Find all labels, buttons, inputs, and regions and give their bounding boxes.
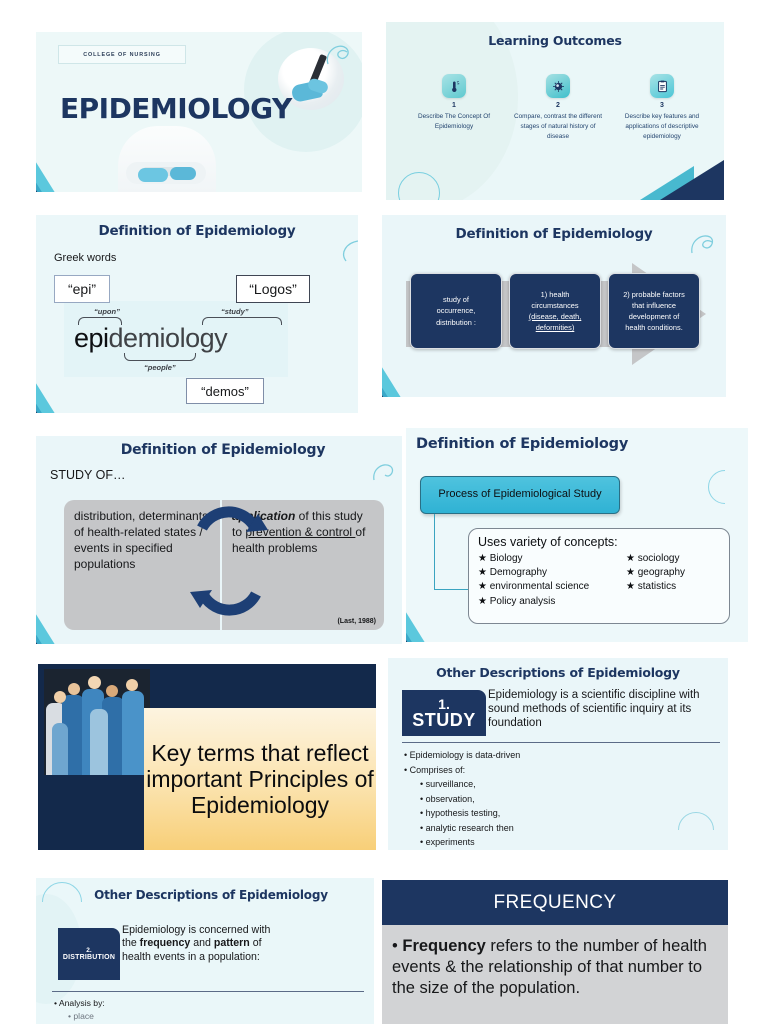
outcome-number: 1 — [402, 102, 506, 109]
divider — [402, 742, 720, 743]
thermometer-icon — [442, 74, 466, 98]
list-item: hypothesis testing, — [404, 806, 520, 821]
label-people: “people” — [144, 363, 176, 372]
bullet-list: Analysis by: place — [54, 997, 105, 1024]
slide-process-of-study[interactable]: Definition of Epidemiology Process of Ep… — [406, 428, 748, 642]
concept-item: ★ Demography — [478, 566, 626, 580]
lead-text: Epidemiology is concerned with the frequ… — [122, 924, 368, 964]
slide-other-descriptions-distribution[interactable]: Other Descriptions of Epidemiology 2. DI… — [36, 878, 374, 1024]
decor-arc — [678, 812, 714, 848]
slide-definition-study-of[interactable]: Definition of Epidemiology STUDY OF… dis… — [36, 436, 402, 644]
outcome-text: Describe The Concept Of Epidemiology — [402, 112, 506, 132]
slide-other-descriptions-study[interactable]: Other Descriptions of Epidemiology 1. ST… — [388, 658, 728, 850]
tag-word: DISTRIBUTION — [63, 954, 115, 961]
tag-study: 1. STUDY — [402, 690, 486, 736]
glove-shape-4 — [170, 167, 196, 180]
slide-frequency[interactable]: FREQUENCY • Frequency refers to the numb… — [382, 880, 728, 1024]
definition-cards: study ofoccurrence,distribution : 1) hea… — [410, 273, 700, 349]
page-title: Definition of Epidemiology — [36, 223, 358, 239]
outcome-item-2[interactable]: 2 Compare, contrast the different stages… — [506, 74, 610, 142]
frequency-keyword: Frequency — [402, 937, 485, 955]
concept-item: ★ Policy analysis — [478, 595, 626, 609]
list-item: Analysis by: — [54, 997, 105, 1010]
outcome-text: Describe key features and applications o… — [610, 112, 714, 142]
clipboard-icon — [650, 74, 674, 98]
outcomes-row: 1 Describe The Concept Of Epidemiology 2… — [402, 74, 714, 142]
box-logos: “Logos” — [236, 275, 310, 303]
brace-people — [124, 353, 196, 361]
cycle-arrow-icon — [184, 482, 274, 638]
concepts-caption: Uses variety of concepts: — [478, 535, 720, 549]
tag-distribution: 2. DISTRIBUTION — [58, 928, 120, 980]
swirl-decor-icon — [336, 237, 358, 267]
decor-arc — [708, 470, 742, 504]
list-item: Comprises of: — [404, 763, 520, 778]
list-item: analytic research then — [404, 821, 520, 836]
page-title: Learning Outcomes — [386, 33, 724, 48]
list-item: place — [54, 1010, 105, 1023]
list-item: Epidemiology is data-driven — [404, 748, 520, 763]
concepts-grid: ★ Biology ★ sociology ★ Demography ★ geo… — [478, 552, 720, 609]
bullet-dot: • — [392, 937, 398, 955]
slide-key-terms[interactable]: Key terms that reflect important Princip… — [38, 664, 376, 850]
process-label-box[interactable]: Process of Epidemiological Study — [420, 476, 620, 514]
glove-shape-3 — [138, 168, 168, 182]
label-study: “study” — [221, 307, 249, 316]
page-title: EPIDEMIOLOGY — [60, 92, 292, 125]
bullet-list: Epidemiology is data-driven Comprises of… — [404, 748, 520, 850]
list-item: surveillance, — [404, 777, 520, 792]
label-upon: “upon” — [94, 307, 120, 316]
tag-number: 2. — [86, 947, 91, 954]
slide-definition-arrow[interactable]: Definition of Epidemiology study ofoccur… — [382, 215, 726, 397]
frequency-title-bar: FREQUENCY — [382, 880, 728, 925]
virus-icon — [546, 74, 570, 98]
citation: (Last, 1988) — [337, 617, 376, 626]
epidemiology-word: epidemiology — [74, 323, 227, 354]
slide-deck: COLLEGE OF NURSING EPIDEMIOLOGY Learning… — [0, 0, 768, 1024]
page-title: Definition of Epidemiology — [416, 436, 628, 452]
navy-corner-decor — [660, 160, 724, 200]
nurses-group-illustration — [44, 669, 150, 775]
greek-words-label: Greek words — [54, 252, 116, 264]
definition-card-1[interactable]: study ofoccurrence,distribution : — [410, 273, 502, 349]
concepts-box: Uses variety of concepts: ★ Biology ★ so… — [468, 528, 730, 624]
definition-card-2[interactable]: 1) healthcircumstances(disease, death,de… — [509, 273, 601, 349]
list-item: observation, — [404, 792, 520, 807]
concept-item: ★ environmental science — [478, 580, 626, 594]
key-terms-panel: Key terms that reflect important Princip… — [144, 708, 376, 850]
list-item: experiments — [404, 835, 520, 850]
nurse-with-clipboard-photo — [118, 126, 216, 192]
page-title: Definition of Epidemiology — [50, 442, 396, 458]
lead-text: Epidemiology is a scientific discipline … — [488, 688, 720, 730]
outcome-item-3[interactable]: 3 Describe key features and applications… — [610, 74, 714, 142]
key-terms-text: Key terms that reflect important Princip… — [144, 740, 376, 818]
concept-item: ★ Biology — [478, 552, 626, 566]
concept-item: ★ sociology — [626, 552, 720, 566]
slide-title[interactable]: COLLEGE OF NURSING EPIDEMIOLOGY — [36, 32, 362, 192]
subhead-study-of: STUDY OF… — [50, 468, 125, 482]
frequency-body: • Frequency refers to the number of heal… — [392, 936, 720, 999]
concept-item: ★ statistics — [626, 580, 720, 594]
outcome-number: 2 — [506, 102, 610, 109]
box-demos: “demos” — [186, 378, 264, 404]
word-prefix: epi — [74, 323, 109, 353]
outcome-number: 3 — [610, 102, 714, 109]
tag-number: 1. — [438, 697, 450, 711]
page-title: Other Descriptions of Epidemiology — [48, 888, 374, 902]
page-title: Definition of Epidemiology — [382, 226, 726, 242]
swirl-decor-icon — [370, 458, 400, 488]
college-badge: COLLEGE OF NURSING — [58, 45, 186, 64]
concept-item: ★ geography — [626, 566, 720, 580]
outcome-item-1[interactable]: 1 Describe The Concept Of Epidemiology — [402, 74, 506, 142]
slide-definition-greek[interactable]: Definition of Epidemiology Greek words “… — [36, 215, 358, 413]
definition-card-3[interactable]: 2) probable factorsthat influencedevelop… — [608, 273, 700, 349]
page-title: Other Descriptions of Epidemiology — [388, 665, 728, 680]
slide-learning-outcomes[interactable]: Learning Outcomes 1 Describe The Concept… — [386, 22, 724, 200]
outcome-text: Compare, contrast the different stages o… — [506, 112, 610, 142]
box-epi: “epi” — [54, 275, 110, 303]
divider — [52, 991, 364, 992]
tag-word: STUDY — [412, 711, 476, 729]
word-rest: demiology — [109, 323, 228, 353]
page-title: FREQUENCY — [494, 892, 617, 914]
